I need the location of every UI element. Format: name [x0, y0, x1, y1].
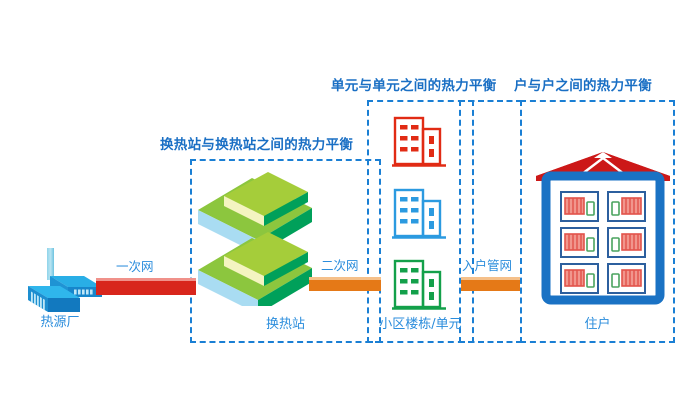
heat-source-plant-label: 热源厂 [14, 316, 106, 329]
zone-caption-heat-exchange-station: 换热站 [190, 318, 381, 331]
building-icon [392, 112, 448, 170]
zone-caption-household: 住户 [520, 318, 675, 331]
apartment-house-icon [532, 148, 674, 308]
pipe-label-indoor-network: 入户管网 [462, 260, 512, 273]
pipe-primary-network [96, 278, 196, 295]
zone-box-indoor-network [459, 100, 522, 343]
pipe-label-primary-network: 一次网 [116, 261, 154, 274]
zone-title-household: 户与户之间的热力平衡 [514, 80, 652, 94]
pipe-secondary-network [309, 277, 381, 291]
zone-title-community-building-unit: 单元与单元之间的热力平衡 [331, 80, 497, 94]
zone-caption-community-building-unit: 小区楼栋/单元 [367, 318, 474, 331]
pipe-label-secondary-network: 二次网 [321, 260, 359, 273]
diagram-canvas: 换热站与换热站之间的热力平衡 单元与单元之间的热力平衡 户与户之间的热力平衡 换… [0, 0, 677, 417]
building-icon [392, 184, 448, 242]
heat-source-plant-icon [14, 246, 106, 318]
building-icon [392, 255, 448, 313]
pipe-indoor-network [461, 277, 520, 291]
heat-exchanger-slab-icon [196, 228, 314, 306]
zone-title-heat-exchange-station: 换热站与换热站之间的热力平衡 [160, 139, 353, 153]
